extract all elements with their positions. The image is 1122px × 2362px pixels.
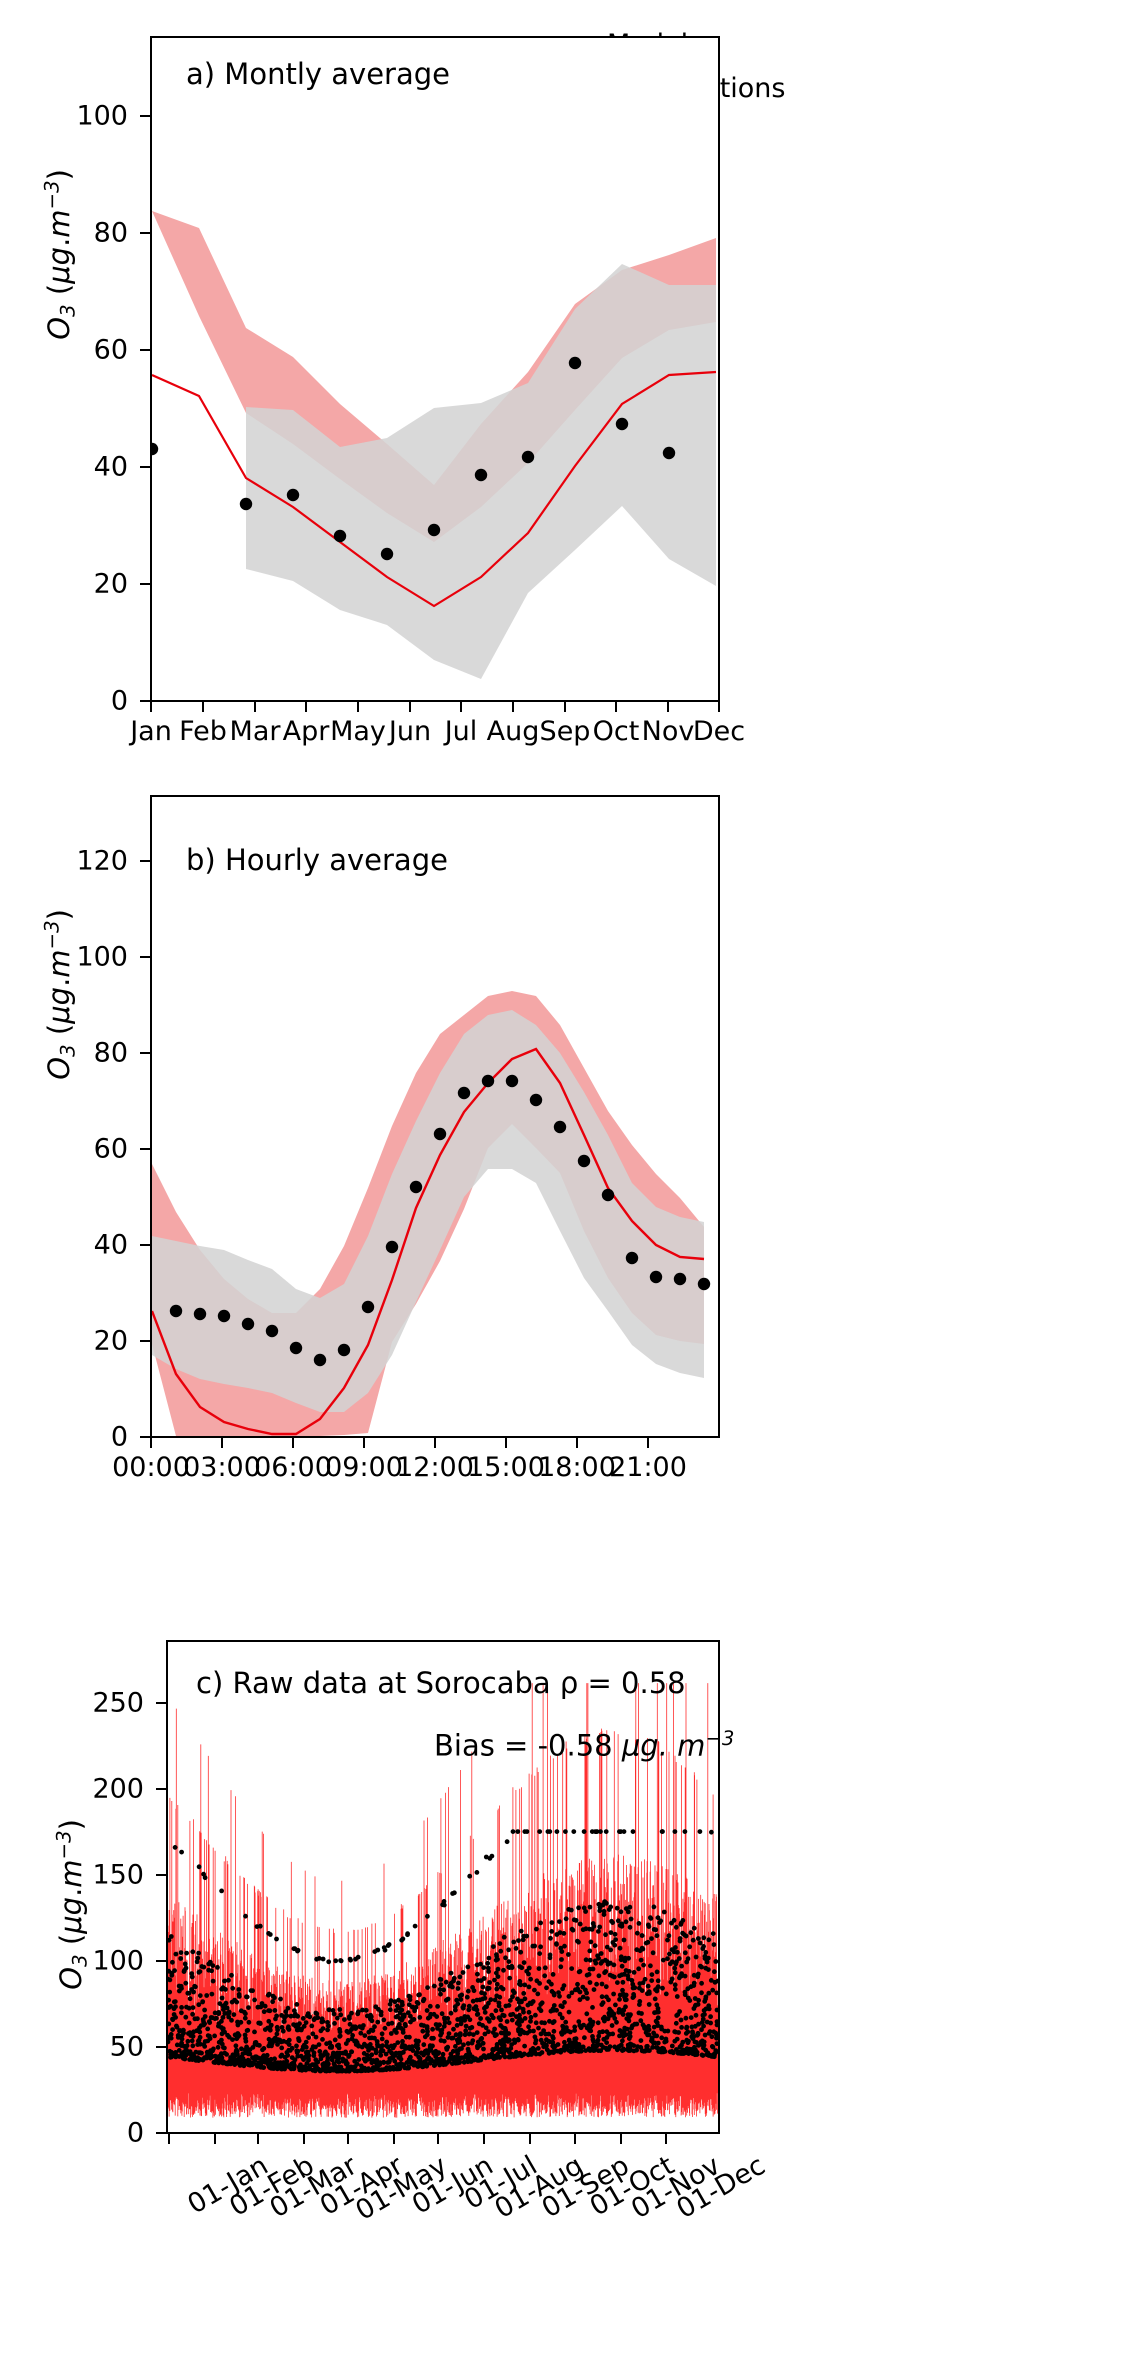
panel-a-tick-x-1 [202,702,204,712]
panel-c-tick-x-1 [214,2134,216,2144]
panel-c-ytick-100: 100 [48,1946,144,1977]
panel-a-ytick-40: 40 [40,452,128,483]
panel-a-xtick-jan: Jan [130,716,172,747]
panel-c-ytick-150: 150 [48,1860,144,1891]
panel-a-tick-x-7 [512,702,514,712]
panel-b-tick-x-21 [647,1438,649,1448]
panel-a-xtick-may: May [330,716,386,747]
panel-a-tick-x-10 [667,702,669,712]
panel-c-ytick-50: 50 [48,2032,144,2063]
panel-b-tick-y-80 [140,1052,150,1054]
panel-a-xtick-nov: Nov [642,716,695,747]
panel-b-tick-y-20 [140,1340,150,1342]
panel-b-ytick-20: 20 [40,1326,128,1357]
panel-b-tick-y-120 [140,860,150,862]
panel-a-xtick-sep: Sep [540,716,591,747]
panel-a-ytick-20: 20 [40,569,128,600]
panel-c-tick-y-100 [156,1960,166,1962]
panel-a-xtick-aug: Aug [487,716,540,747]
panel-a-tick-x-3 [305,702,307,712]
panel-c-tick-y-200 [156,1788,166,1790]
panel-c-bias-prefix: Bias = -0.58 [434,1728,622,1762]
panel-c-tick-y-0 [156,2132,166,2134]
panel-a-tick-y-20 [140,583,150,585]
panel-c-tick-x-9 [574,2134,576,2144]
panel-a-plot-area [150,36,720,702]
panel-b-ylabel: O3 (μg.m−3) [41,874,80,1114]
panel-a-xtick-dec: Dec [693,716,745,747]
panel-c-tick-y-150 [156,1874,166,1876]
panel-b-xtick-2100: 21:00 [609,1452,687,1483]
panel-c-ylabel: O3 (μg.m−3) [53,1784,92,2024]
panel-a-tick-x-4 [357,702,359,712]
panel-b-ytick-60: 60 [40,1134,128,1165]
panel-c-tick-y-250 [156,1702,166,1704]
panel-a-ytick-100: 100 [40,101,128,132]
panel-c-svg [168,1642,718,2132]
panel-b-tick-y-0 [140,1436,150,1438]
panel-a-xtick-oct: Oct [593,716,640,747]
panel-c-tick-x-0 [168,2134,170,2144]
panel-c-tick-x-5 [393,2134,395,2144]
panel-b-svg [152,797,718,1436]
panel-c-tick-x-8 [529,2134,531,2144]
panel-a-ytick-0: 0 [40,686,128,717]
panel-a-tick-y-100 [140,115,150,117]
panel-b-title: b) Hourly average [186,843,448,877]
panel-c-tick-y-50 [156,2046,166,2048]
panel-a-tick-x-9 [615,702,617,712]
panel-c-tick-x-7 [483,2134,485,2144]
panel-b-xtick-1800: 18:00 [538,1452,616,1483]
panel-a-tick-y-80 [140,232,150,234]
panel-c-tick-x-11 [665,2134,667,2144]
panel-b-ytick-40: 40 [40,1230,128,1261]
panel-b-xtick-0900: 09:00 [325,1452,403,1483]
panel-b-xtick-0000: 00:00 [112,1452,190,1483]
panel-c-plot-area [166,1640,720,2134]
panel-c-ytick-200: 200 [48,1774,144,1805]
panel-c-tick-x-3 [303,2134,305,2144]
panel-a-tick-y-40 [140,466,150,468]
panel-a-tick-x-8 [564,702,566,712]
panel-b-tick-x-9 [363,1438,365,1448]
panel-a-tick-y-0 [140,700,150,702]
panel-a-xtick-feb: Feb [179,716,227,747]
panel-a-title: a) Montly average [186,57,450,91]
panel-b-xtick-0600: 06:00 [254,1452,332,1483]
panel-a-tick-x-2 [254,702,256,712]
panel-b-xtick-1200: 12:00 [396,1452,474,1483]
panel-c-tick-x-2 [257,2134,259,2144]
panel-b-tick-x-0 [150,1438,152,1448]
panel-c-title: c) Raw data at Sorocaba ρ = 0.58 [196,1666,686,1700]
panel-b-tick-y-40 [140,1244,150,1246]
panel-b-xtick-1500: 15:00 [467,1452,545,1483]
panel-c-bias-annotation: Bias = -0.58 μg. m−3 [434,1727,734,1762]
panel-a-tick-x-0 [150,702,152,712]
panel-b-ytick-120: 120 [40,846,128,877]
panel-b-tick-y-100 [140,956,150,958]
panel-c-tick-x-6 [437,2134,439,2144]
panel-b-tick-x-3 [221,1438,223,1448]
panel-c-ytick-0: 0 [48,2118,144,2149]
panel-b-ytick-100: 100 [40,942,128,973]
panel-b-ytick-0: 0 [40,1422,128,1453]
panel-c-ytick-250: 250 [48,1688,144,1719]
panel-a-tick-x-11 [718,702,720,712]
panel-b-tick-y-60 [140,1148,150,1150]
panel-a-xtick-jul: Jul [445,716,478,747]
panel-a-ytick-80: 80 [40,218,128,249]
panel-a-tick-x-5 [409,702,411,712]
panel-a-xtick-jun: Jun [389,716,431,747]
panel-b-xtick-0300: 03:00 [183,1452,261,1483]
panel-a-svg [152,38,718,700]
panel-b-tick-x-12 [434,1438,436,1448]
panel-a-xtick-apr: Apr [283,716,330,747]
panel-c-tick-x-4 [347,2134,349,2144]
panel-a-xtick-mar: Mar [230,716,281,747]
panel-b-tick-x-18 [576,1438,578,1448]
panel-b-tick-x-15 [505,1438,507,1448]
panel-a-tick-y-60 [140,349,150,351]
panel-b-ytick-80: 80 [40,1038,128,1069]
panel-a-ytick-60: 60 [40,335,128,366]
panel-b-tick-x-6 [292,1438,294,1448]
panel-c-tick-x-10 [620,2134,622,2144]
panel-a-tick-x-6 [460,702,462,712]
panel-b-plot-area [150,795,720,1438]
panel-c-title-text: c) Raw data at Sorocaba ρ = 0.58 [196,1666,686,1700]
